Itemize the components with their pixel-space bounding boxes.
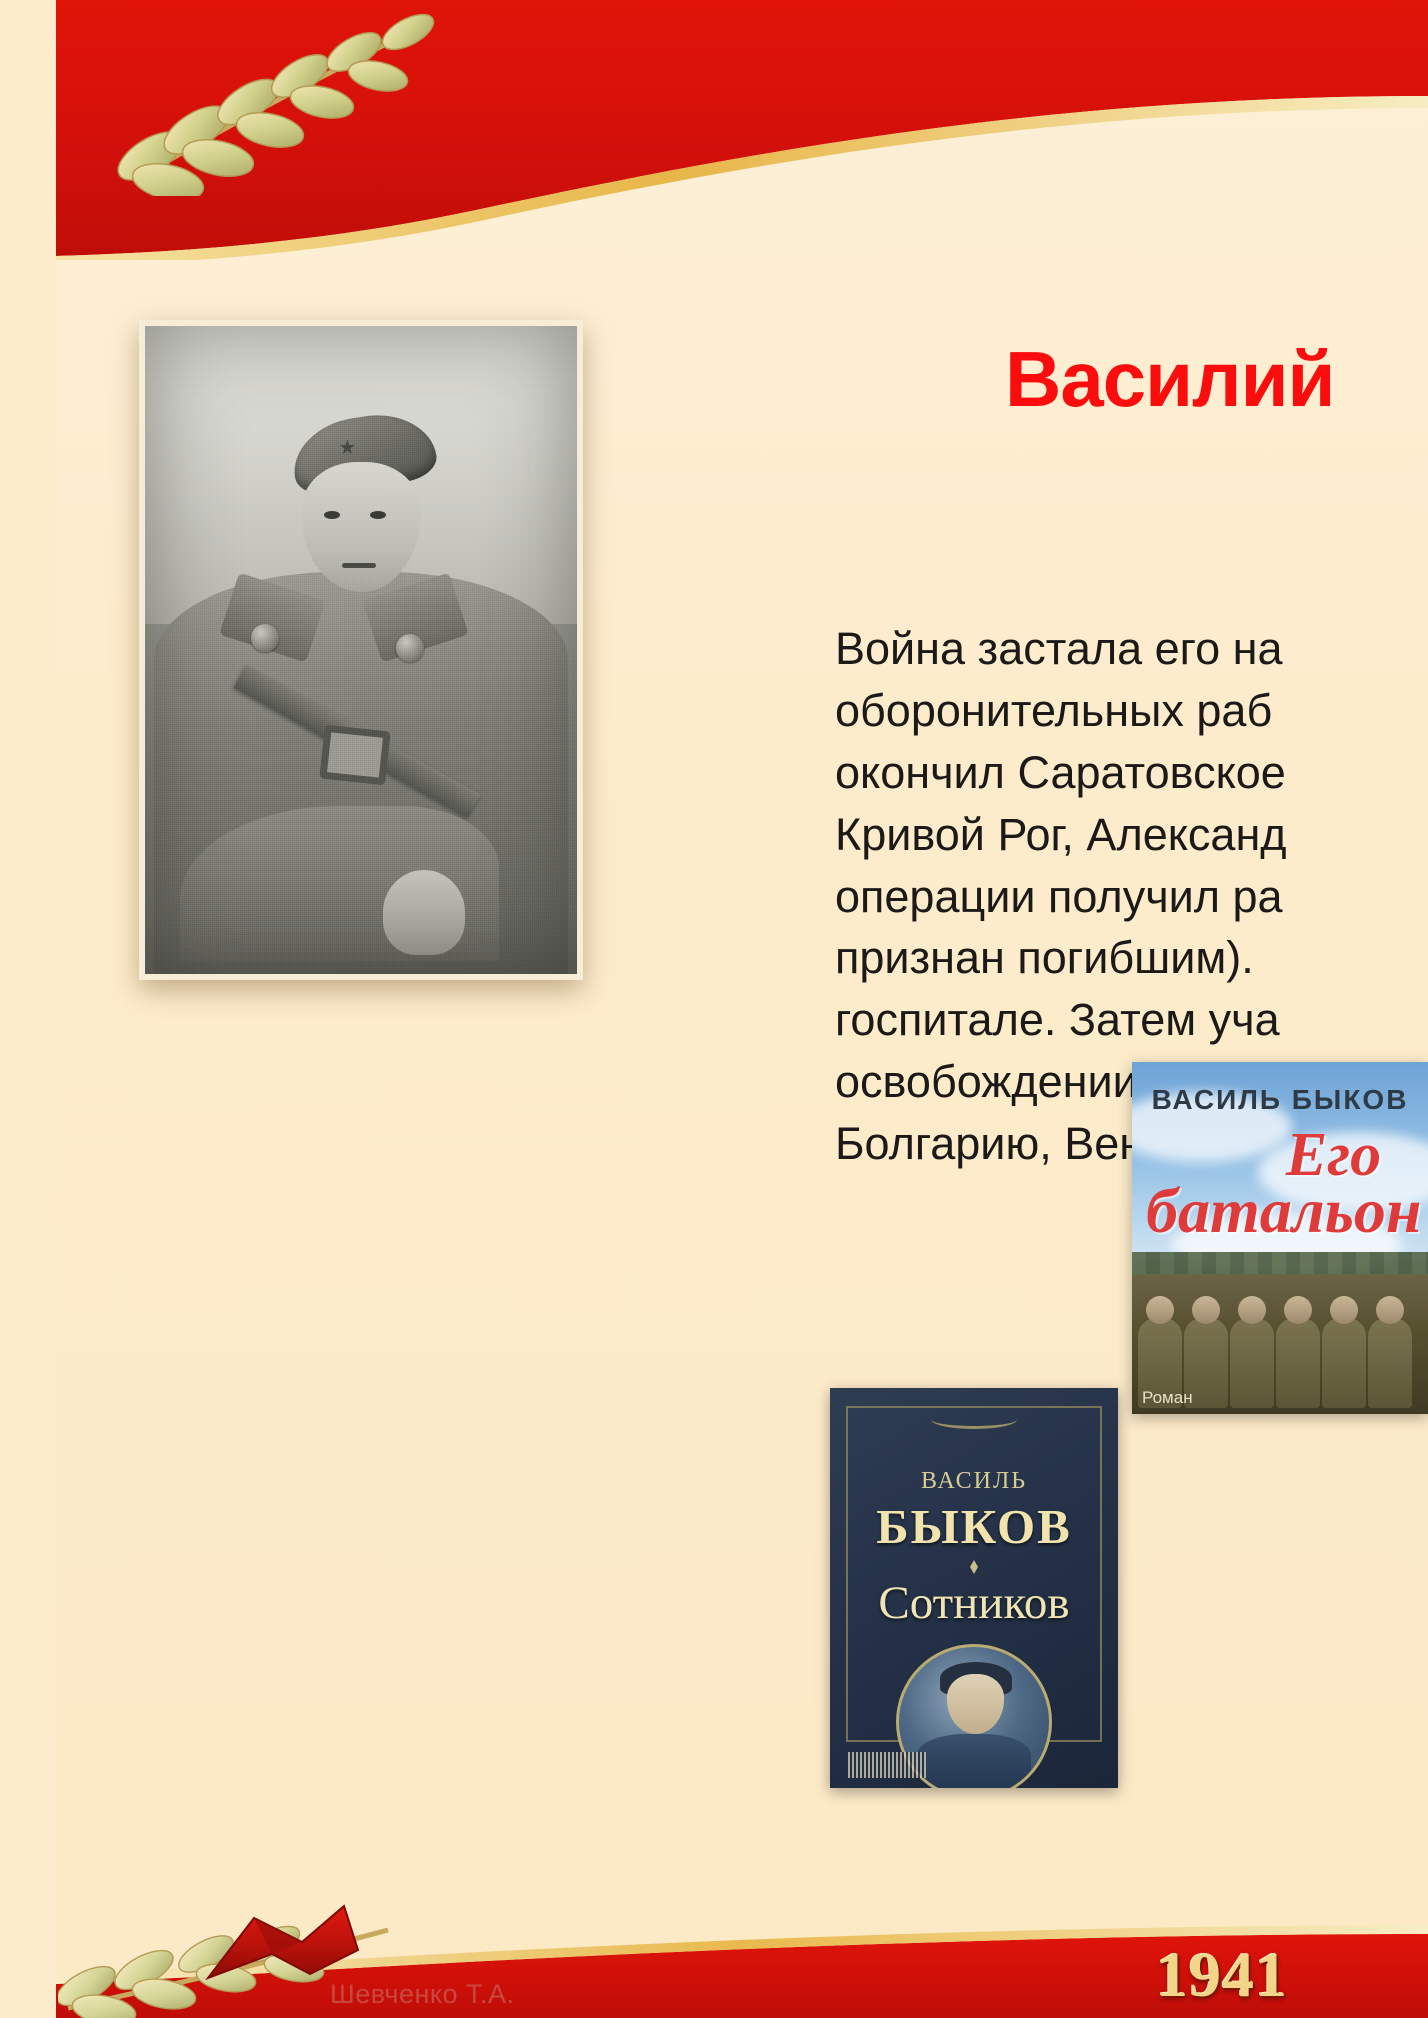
cover-ornament-icon	[931, 1410, 1017, 1429]
bio-line: окончил Саратовское	[835, 742, 1428, 804]
book-author-label: ВАСИЛЬ БЫКОВ	[1132, 1084, 1428, 1116]
medallion-coat	[917, 1734, 1031, 1788]
author-credit: Шевченко Т.А.	[330, 1979, 515, 2010]
bio-line: госпитале. Затем уча	[835, 989, 1428, 1051]
presentation-slide: Василий Война застала его на оборонитель…	[0, 0, 1428, 2018]
book-author-label: БЫКОВ	[830, 1498, 1118, 1555]
photo-vignette	[145, 326, 577, 974]
laurel-branch-icon	[72, 6, 452, 196]
bio-line: Кривой Рог, Александ	[835, 804, 1428, 866]
book-cover-ego-batalion: ВАСИЛЬ БЫКОВ Его батальон Роман	[1132, 1062, 1428, 1414]
medallion-face	[947, 1674, 1004, 1734]
book-title-line2: батальон	[1146, 1174, 1421, 1248]
cover-soldier	[1230, 1318, 1274, 1408]
cover-barcode-icon	[848, 1752, 926, 1778]
bio-line: операции получил ра	[835, 866, 1428, 928]
cover-soldier	[1368, 1318, 1412, 1408]
year-badge: 1941	[1156, 1938, 1288, 2012]
soldier-portrait-photo	[145, 326, 577, 974]
bio-line: Война застала его на	[835, 618, 1428, 680]
bio-line: оборонительных раб	[835, 680, 1428, 742]
cover-soldier	[1276, 1318, 1320, 1408]
book-title-label: Сотников	[830, 1576, 1118, 1630]
cover-soldier	[1322, 1318, 1366, 1408]
page-title: Василий	[1005, 340, 1335, 418]
book-cover-sotnikov: ВАСИЛЬ БЫКОВ Сотников	[830, 1388, 1118, 1788]
bio-line: признан погибшим).	[835, 927, 1428, 989]
book-author-prefix: ВАСИЛЬ	[830, 1468, 1118, 1495]
portrait-photo-frame	[139, 320, 583, 980]
book-caption: Роман	[1142, 1388, 1193, 1408]
